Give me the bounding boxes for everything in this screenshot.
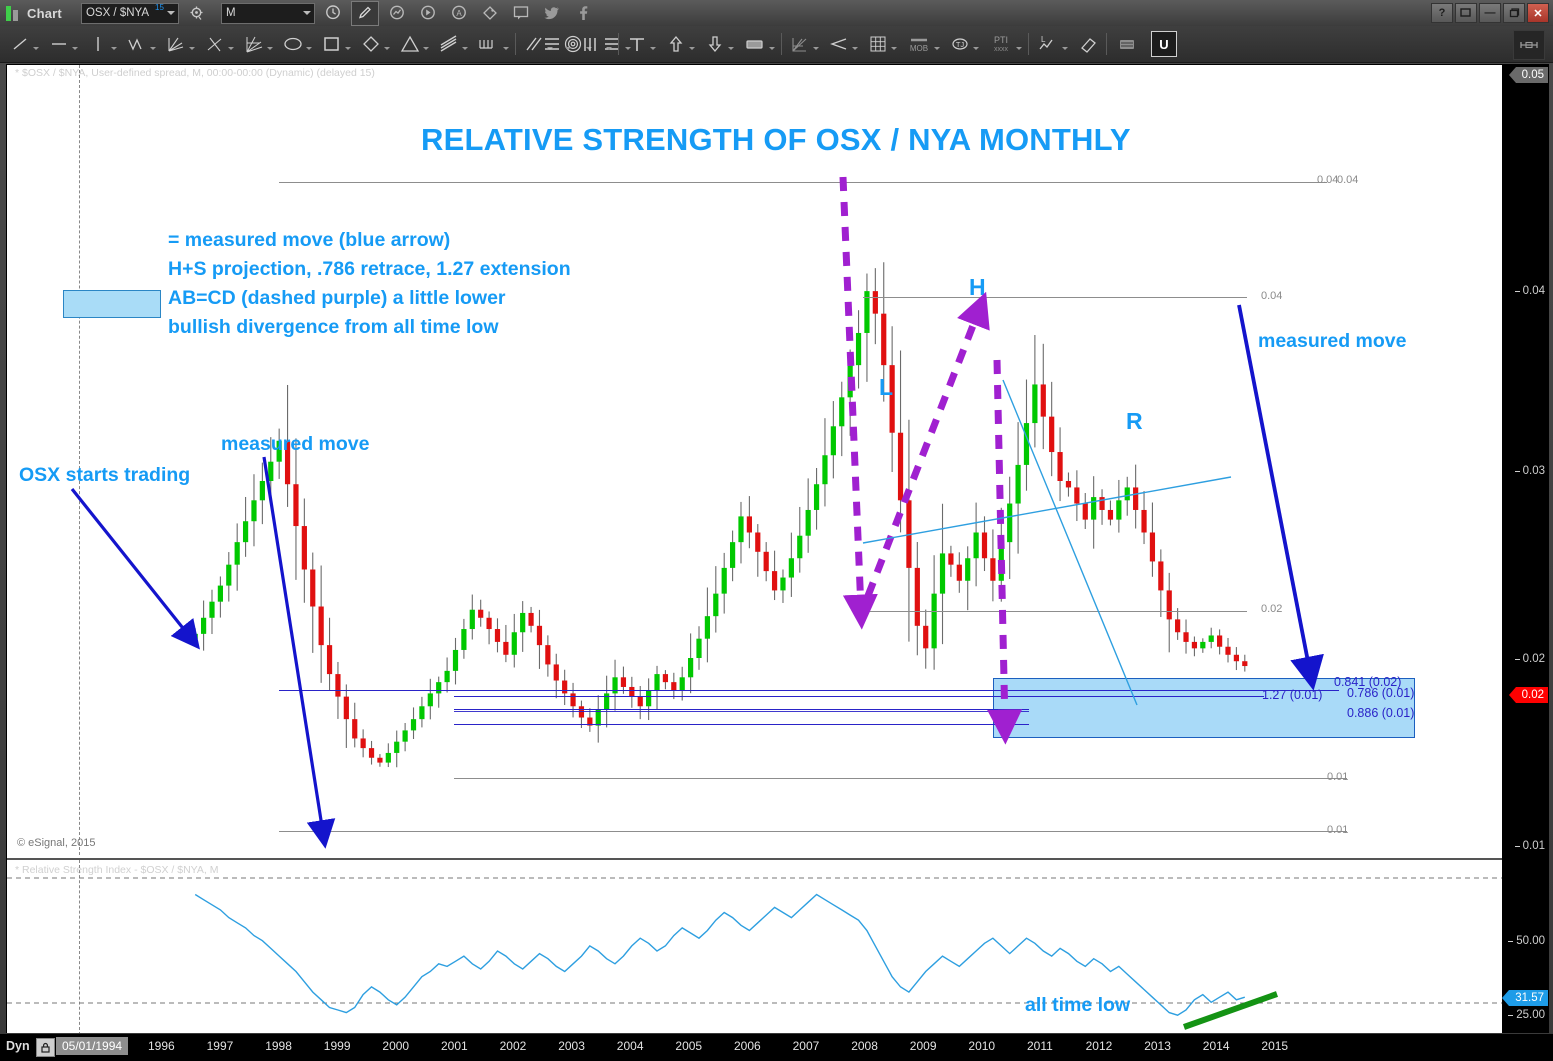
chart-app-icon: [6, 6, 22, 21]
magnet-tool[interactable]: U: [1151, 31, 1177, 57]
chevron-down-icon[interactable]: [228, 47, 234, 50]
year-tick: 2006: [734, 1039, 761, 1053]
fib-line-1.27: [454, 696, 1264, 697]
horizontal-line-tool[interactable]: [47, 30, 71, 58]
ellipse-tool[interactable]: [281, 30, 305, 58]
timeframe-value: M: [226, 7, 236, 19]
price-scale[interactable]: 0.05 0.04 0.03 0.02 0.02 0.01 50.00 31.5…: [1502, 64, 1549, 1034]
rectangle-tool[interactable]: [320, 30, 344, 58]
restore-down-button[interactable]: [1455, 3, 1477, 23]
rsi-tick-50: 50.00: [1516, 935, 1545, 947]
year-tick: 2000: [382, 1039, 409, 1053]
chevron-down-icon[interactable]: [306, 47, 312, 50]
fib-label-2: 0.786 (0.01): [1347, 686, 1414, 700]
rsi-annotation: all time low: [1025, 994, 1130, 1017]
osx-starts-trading-label: OSX starts trading: [19, 464, 190, 487]
symbol-input[interactable]: OSX / $NYA 15: [81, 3, 179, 24]
chevron-down-icon[interactable]: [934, 47, 940, 50]
fib-label-1: 1.27 (0.01): [1262, 688, 1322, 702]
window-title-bar: Chart OSX / $NYA 15 M: [0, 0, 1553, 27]
scale-tick-0.02: 0.02: [1523, 653, 1545, 665]
year-tick: 1999: [324, 1039, 351, 1053]
tj-tool[interactable]: TJ: [948, 30, 972, 58]
time-interval-icon[interactable]: [320, 2, 346, 25]
fib-label-3: 0.886 (0.01): [1347, 706, 1414, 720]
svg-text:MOB: MOB: [910, 44, 928, 53]
chevron-down-icon[interactable]: [189, 47, 195, 50]
diamond-tool[interactable]: [359, 30, 383, 58]
hline-0.02: [863, 611, 1247, 612]
symbol-delay-badge: 15: [155, 3, 164, 12]
chart-start-marker: [79, 65, 80, 855]
symbol-value: OSX / $NYA: [86, 7, 149, 19]
hline-0.04-b: [863, 297, 1247, 298]
price-pane[interactable]: * $OSX / $NYA, User-defined spread, M, 0…: [7, 65, 1503, 855]
toolbar-separator: [781, 33, 782, 55]
hline-0.01-a: [454, 778, 1347, 779]
facebook-icon[interactable]: [570, 2, 596, 25]
legend-line-2: AB=CD (dashed purple) a little lower: [168, 287, 506, 310]
symbol-settings-icon[interactable]: [184, 2, 210, 25]
chevron-down-icon[interactable]: [1016, 47, 1022, 50]
chart-canvas[interactable]: * $OSX / $NYA, User-defined spread, M, 0…: [6, 64, 1504, 1034]
gann-fan-tool[interactable]: [242, 30, 266, 58]
svg-text:xxxx: xxxx: [994, 46, 1009, 53]
hline-0.04-a: [279, 182, 1327, 183]
up-arrow-tool[interactable]: [664, 30, 688, 58]
close-button[interactable]: ✕: [1527, 3, 1549, 23]
rsi-chart-svg: [7, 860, 1503, 1035]
year-tick: 2005: [675, 1039, 702, 1053]
polyline-tool[interactable]: [125, 30, 149, 58]
hline-label-3: 0.02: [1261, 603, 1282, 615]
right-shoulder-label: R: [1126, 408, 1143, 435]
trend-refresh-icon[interactable]: [384, 2, 410, 25]
hline-label-4: 0.01: [1327, 771, 1348, 783]
fib-line-0.786: [454, 709, 1029, 710]
year-tick: 2004: [617, 1039, 644, 1053]
svg-text:L: L: [1041, 35, 1046, 44]
twitter-icon[interactable]: [539, 2, 565, 25]
chevron-down-icon[interactable]: [423, 47, 429, 50]
scale-tick-0.01: 0.01: [1523, 840, 1545, 852]
time-axis-bar[interactable]: Dyn 05/01/1994 1996199719981999200020012…: [0, 1033, 1553, 1061]
year-tick: 2007: [793, 1039, 820, 1053]
year-tick: 2015: [1261, 1039, 1288, 1053]
chart-title: RELATIVE STRENGTH OF OSX / NYA MONTHLY: [421, 122, 1131, 158]
fib-extension-tool[interactable]: [579, 30, 605, 58]
play-icon[interactable]: [415, 2, 441, 25]
rsi-pane-header: * Relative Strength Index - $OSX / $NYA,…: [15, 864, 218, 876]
scale-top-badge: 0.05: [1516, 67, 1548, 83]
fib-line-0.841: [279, 690, 1339, 691]
measured-move-left-label: measured move: [221, 433, 370, 456]
pti-tool[interactable]: PTIxxxx: [987, 30, 1015, 58]
edit-pencil-icon[interactable]: [351, 1, 379, 26]
legend-line-1: H+S projection, .786 retrace, 1.27 exten…: [168, 258, 571, 281]
year-tick: 2003: [558, 1039, 585, 1053]
chevron-down-icon[interactable]: [565, 47, 571, 50]
down-arrow-tool[interactable]: [703, 30, 727, 58]
chevron-down-icon[interactable]: [303, 11, 311, 15]
mob-tool[interactable]: MOB: [905, 30, 933, 58]
toolbar-separator: [618, 33, 619, 55]
year-tick: 2002: [500, 1039, 527, 1053]
svg-text:PTI: PTI: [994, 35, 1008, 45]
app-title: Chart: [27, 6, 62, 21]
eraser-tool[interactable]: [1076, 30, 1100, 58]
year-tick: 2010: [968, 1039, 995, 1053]
comment-icon[interactable]: [508, 2, 534, 25]
fib-arc-tool[interactable]: [203, 30, 227, 58]
chevron-down-icon[interactable]: [72, 47, 78, 50]
fib-fan-tool[interactable]: [164, 30, 188, 58]
year-tick: 2009: [910, 1039, 937, 1053]
measure-icon[interactable]: [1513, 30, 1545, 60]
alerts-icon[interactable]: A: [446, 2, 472, 25]
chevron-down-icon[interactable]: [650, 47, 656, 50]
lock-icon[interactable]: [36, 1038, 55, 1057]
triangle-tool[interactable]: [398, 30, 422, 58]
text-tool[interactable]: [625, 30, 649, 58]
help-button[interactable]: ?: [1431, 3, 1453, 23]
toolbar-separator: [515, 33, 516, 55]
chevron-down-icon[interactable]: [267, 47, 273, 50]
toolbar-separator: [1106, 33, 1107, 55]
dynamic-label: Dyn: [6, 1039, 30, 1053]
arrow-left-tool[interactable]: [827, 30, 851, 58]
measured-move-right-label: measured move: [1258, 330, 1407, 353]
svg-text:TJ: TJ: [956, 40, 965, 49]
chevron-down-icon[interactable]: [728, 47, 734, 50]
chevron-down-icon[interactable]: [852, 47, 858, 50]
fib-line-0.886: [454, 724, 1029, 725]
year-tick: 1996: [148, 1039, 175, 1053]
year-tick: 2011: [1027, 1039, 1053, 1053]
line-tool[interactable]: [8, 30, 32, 58]
head-label: H: [969, 274, 986, 301]
chevron-down-icon[interactable]: [167, 11, 175, 15]
chevron-down-icon[interactable]: [345, 47, 351, 50]
scale-tick-0.04: 0.04: [1523, 285, 1545, 297]
timeframe-select[interactable]: M: [221, 3, 315, 24]
chevron-down-icon[interactable]: [1062, 47, 1068, 50]
left-shoulder-label: L: [879, 374, 893, 401]
price-pane-header: * $OSX / $NYA, User-defined spread, M, 0…: [15, 67, 375, 79]
toolbar-separator: [1028, 33, 1029, 55]
rsi-tick-25: 25.00: [1516, 1009, 1545, 1021]
year-tick: 2008: [851, 1039, 878, 1053]
chevron-down-icon[interactable]: [462, 47, 468, 50]
gann-box-tool[interactable]: [788, 30, 812, 58]
year-tick: 2014: [1203, 1039, 1230, 1053]
start-date-label[interactable]: 05/01/1994: [56, 1037, 128, 1055]
chevron-down-icon[interactable]: [384, 47, 390, 50]
chevron-down-icon[interactable]: [973, 47, 979, 50]
chevron-down-icon[interactable]: [503, 47, 509, 50]
legend-color-swatch: [63, 290, 161, 318]
chevron-down-icon[interactable]: [606, 47, 612, 50]
grid-tool[interactable]: [866, 30, 890, 58]
drawing-toolbar: MOB TJ PTIxxxx L U: [0, 26, 1553, 63]
svg-text:A: A: [456, 9, 462, 18]
year-tick: 2013: [1144, 1039, 1171, 1053]
chevron-down-icon[interactable]: [769, 47, 775, 50]
study-tool[interactable]: L: [1035, 30, 1061, 58]
rsi-pane[interactable]: * Relative Strength Index - $OSX / $NYA,…: [7, 858, 1503, 1035]
minimize-button[interactable]: —: [1479, 3, 1501, 23]
year-tick: 2012: [1086, 1039, 1113, 1053]
last-price-badge: 0.02: [1516, 687, 1548, 703]
note-tool[interactable]: [742, 30, 768, 58]
parallel-channel-tool[interactable]: [437, 30, 461, 58]
layers-tool[interactable]: [1115, 30, 1141, 58]
tag-icon[interactable]: [477, 2, 503, 25]
pitchfork-tool[interactable]: [476, 30, 502, 58]
chevron-down-icon[interactable]: [813, 47, 819, 50]
chevron-down-icon[interactable]: [111, 47, 117, 50]
rsi-start-marker: [79, 860, 80, 1035]
chevron-down-icon[interactable]: [33, 47, 39, 50]
rsi-current-badge: 31.57: [1509, 990, 1548, 1006]
maximize-button[interactable]: [1503, 3, 1525, 23]
hline-0.01-b: [279, 831, 1347, 832]
legend-line-3: bullish divergence from all time low: [168, 316, 499, 339]
year-tick: 1997: [207, 1039, 234, 1053]
fib-time-tool[interactable]: [540, 30, 564, 58]
vertical-line-tool[interactable]: [86, 30, 110, 58]
chevron-down-icon[interactable]: [891, 47, 897, 50]
chevron-down-icon[interactable]: [689, 47, 695, 50]
hline-label-5: 0.01: [1327, 824, 1348, 836]
scale-tick-0.03: 0.03: [1523, 465, 1545, 477]
chevron-down-icon[interactable]: [150, 47, 156, 50]
hline-label-0: 0.04: [1317, 174, 1338, 186]
fib-line-0.786b: [454, 711, 1029, 712]
hline-label-1: 0.04: [1337, 174, 1358, 186]
window-controls[interactable]: ? — ✕: [1431, 3, 1549, 23]
year-tick: 2001: [441, 1039, 468, 1053]
legend-line-0: = measured move (blue arrow): [168, 229, 450, 252]
year-tick: 1998: [265, 1039, 292, 1053]
copyright-label: © eSignal, 2015: [17, 837, 95, 849]
hline-label-2: 0.04: [1261, 290, 1282, 302]
